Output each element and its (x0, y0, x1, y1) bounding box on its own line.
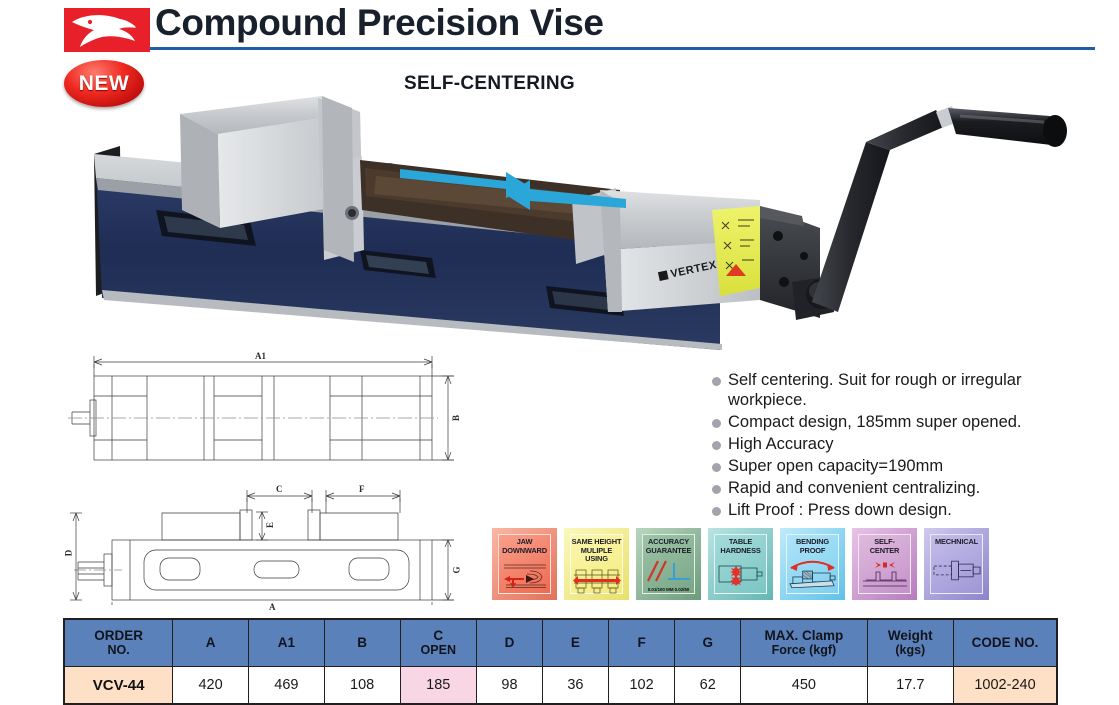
header-main: MAX. Clamp (764, 628, 843, 643)
cell-weight: 17.7 (867, 667, 953, 705)
cell-a1: 469 (248, 667, 324, 705)
cell-c-open: 185 (400, 667, 477, 705)
col-max-clamp-force: MAX. Clamp Force (kgf) (741, 619, 867, 667)
header-main: E (571, 635, 580, 650)
bullet-icon (712, 485, 721, 494)
header-sub: (kgs) (871, 644, 950, 657)
badge-bending-proof: BENDING PROOF (780, 528, 845, 600)
technical-drawings: A1 B C F E D G A (62, 350, 482, 605)
bullet-icon (712, 377, 721, 386)
dim-label-b: B (451, 415, 461, 421)
header-main: F (637, 635, 645, 650)
col-f: F (608, 619, 674, 667)
bending-proof-icon (787, 555, 838, 593)
bullet-icon (712, 419, 721, 428)
bullet-icon (712, 441, 721, 450)
col-b: B (324, 619, 400, 667)
product-photo: VERTEX (60, 50, 1080, 350)
cell-order-no: VCV-44 (64, 667, 173, 705)
badge-line: MECHNICAL (935, 537, 978, 546)
col-a: A (173, 619, 249, 667)
same-height-icon (571, 564, 622, 596)
new-badge: NEW (64, 60, 144, 107)
badge-line: MULIPLE USING (581, 546, 612, 564)
badge-line: CENTER (870, 546, 900, 555)
cell-d: 98 (477, 667, 543, 705)
col-e: E (542, 619, 608, 667)
header-main: D (505, 635, 515, 650)
col-a1: A1 (248, 619, 324, 667)
header-sub: NO. (68, 644, 169, 657)
accuracy-icon (643, 555, 694, 587)
cell-e: 36 (542, 667, 608, 705)
page-title: Compound Precision Vise (155, 2, 604, 44)
dim-label-e: E (265, 522, 275, 528)
table-row: VCV-44 420 469 108 185 98 36 102 62 450 … (64, 667, 1057, 705)
list-item: Super open capacity=190mm (712, 456, 1082, 476)
header-main: A (206, 635, 216, 650)
badge-line: GUARANTEE (646, 546, 691, 555)
self-center-icon (859, 555, 910, 593)
dim-label-d: D (63, 550, 73, 557)
col-code-no: CODE NO. (954, 619, 1057, 667)
dim-label-c: C (276, 484, 283, 494)
cell-max-clamp-force: 450 (741, 667, 867, 705)
mechanical-icon (931, 547, 982, 593)
header-main: CODE NO. (972, 635, 1039, 650)
badge-mechnical: MECHNICAL (924, 528, 989, 600)
badge-line: HARDNESS (720, 546, 760, 555)
list-item: Self centering. Suit for rough or irregu… (712, 370, 1082, 410)
cell-b: 108 (324, 667, 400, 705)
header-main: C (433, 628, 443, 643)
col-g: G (675, 619, 741, 667)
badge-jaw-downward: JAW DOWNWARD (492, 528, 557, 600)
col-order-no: ORDER NO. (64, 619, 173, 667)
feature-text: Super open capacity=190mm (728, 456, 943, 476)
badge-line: PROOF (800, 546, 826, 555)
badge-line: DOWNWARD (502, 546, 547, 555)
bullet-icon (712, 463, 721, 472)
features-list: Self centering. Suit for rough or irregu… (712, 370, 1082, 522)
bullet-icon (712, 507, 721, 516)
accuracy-tolerance-note: 0.01/100 MM 0.02/50 (648, 587, 690, 592)
header-main: B (357, 635, 367, 650)
dim-label-a1: A1 (255, 351, 266, 361)
badge-table-hardness: TABLE HARDNESS (708, 528, 773, 600)
badge-same-height: SAME HEIGHT MULIPLE USING (564, 528, 629, 600)
cell-code-no: 1002-240 (954, 667, 1057, 705)
header-main: G (702, 635, 713, 650)
feature-badge-strip: JAW DOWNWARD SAME HEIGHT (492, 528, 1092, 600)
specification-table: ORDER NO. A A1 B C OPEN D E F (63, 618, 1058, 705)
cell-g: 62 (675, 667, 741, 705)
page-header: Compound Precision Vise (0, 0, 1119, 56)
cell-a: 420 (173, 667, 249, 705)
header-sub: Force (kgf) (744, 644, 863, 657)
new-badge-label: NEW (79, 72, 130, 96)
list-item: Lift Proof : Press down design. (712, 500, 1082, 520)
feature-text: Self centering. Suit for rough or irregu… (728, 370, 1082, 410)
badge-accuracy-guarantee: ACCURACY GUARANTEE 0.01/100 MM 0.02/50 (636, 528, 701, 600)
header-main: ORDER (94, 628, 143, 643)
cell-f: 102 (608, 667, 674, 705)
header-main: A1 (278, 635, 295, 650)
header-main: Weight (888, 628, 933, 643)
dim-label-g: G (452, 566, 462, 573)
header-sub: OPEN (404, 644, 474, 657)
dim-label-a: A (269, 602, 276, 612)
feature-text: Compact design, 185mm super opened. (728, 412, 1022, 432)
jaw-downward-icon (499, 555, 550, 593)
col-c-open: C OPEN (400, 619, 477, 667)
feature-text: High Accuracy (728, 434, 833, 454)
list-item: Compact design, 185mm super opened. (712, 412, 1082, 432)
list-item: Rapid and convenient centralizing. (712, 478, 1082, 498)
badge-self-center: SELF- CENTER (852, 528, 917, 600)
table-header-row: ORDER NO. A A1 B C OPEN D E F (64, 619, 1057, 667)
table-hardness-icon (715, 555, 766, 593)
col-d: D (477, 619, 543, 667)
feature-text: Rapid and convenient centralizing. (728, 478, 980, 498)
list-item: High Accuracy (712, 434, 1082, 454)
feature-text: Lift Proof : Press down design. (728, 500, 952, 520)
col-weight: Weight (kgs) (867, 619, 953, 667)
self-centering-caption: SELF-CENTERING (404, 73, 575, 95)
eagle-head-logo-icon (64, 8, 150, 52)
dim-label-f: F (359, 484, 365, 494)
